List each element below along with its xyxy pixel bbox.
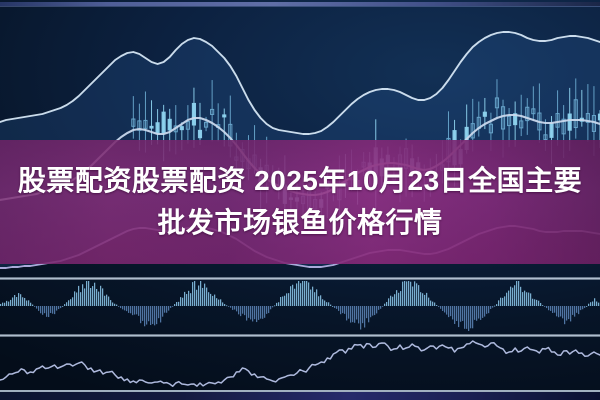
title-line-2: 批发市场银鱼价格行情 — [157, 205, 442, 241]
banner-title: 股票配资股票配资 2025年10月23日全国主要 批发市场银鱼价格行情 — [0, 140, 600, 264]
stock-chart-banner: 股票配资股票配资 2025年10月23日全国主要 批发市场银鱼价格行情 — [0, 0, 600, 400]
top-rule-thin — [0, 6, 600, 7]
panel-separator-upper — [0, 277, 600, 280]
footer-band — [0, 392, 600, 400]
title-line-1: 股票配资股票配资 2025年10月23日全国主要 — [18, 163, 582, 199]
panel-separator-lower — [0, 334, 600, 337]
